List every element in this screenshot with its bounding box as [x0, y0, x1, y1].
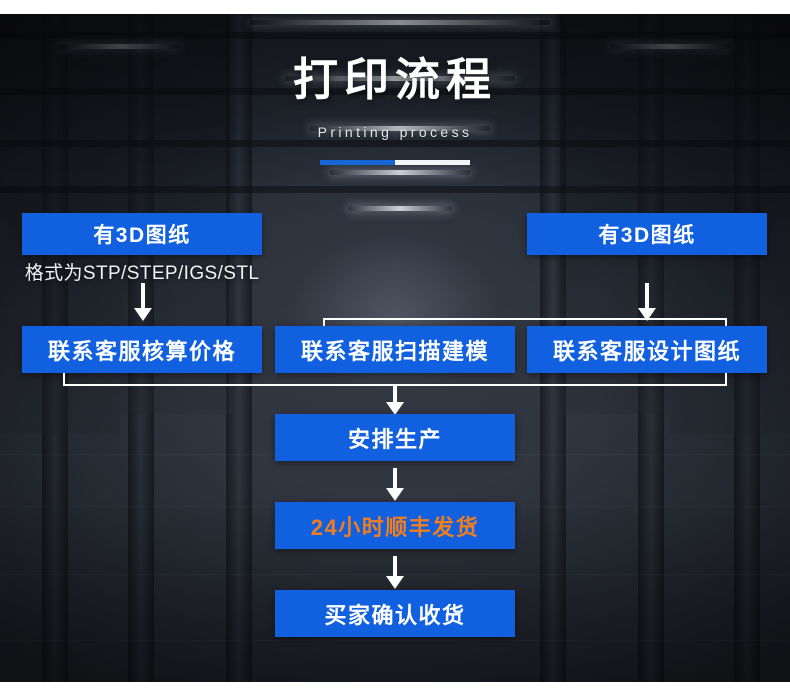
divider-segment-blue — [320, 160, 395, 165]
header: 打印流程 Printing process — [0, 52, 790, 165]
flow-box-24h-sf-express-shipping[interactable]: 24小时顺丰发货 — [275, 502, 515, 549]
flow-box-label: 安排生产 — [348, 422, 442, 454]
flow-box-contact-support-scan-model[interactable]: 联系客服扫描建模 — [275, 326, 515, 373]
arrow-down-to-production — [385, 386, 405, 415]
divider-segment-white — [395, 160, 470, 165]
flow-box-contact-support-quote[interactable]: 联系客服核算价格 — [22, 326, 262, 373]
flow-box-label: 联系客服设计图纸 — [553, 334, 741, 366]
flow-box-buyer-confirm-receipt[interactable]: 买家确认收货 — [275, 590, 515, 637]
flow-box-contact-support-design-drawing[interactable]: 联系客服设计图纸 — [527, 326, 767, 373]
flow-box-has-3d-drawing-right[interactable]: 有3D图纸 — [527, 213, 767, 255]
flow-box-label: 联系客服核算价格 — [48, 334, 236, 366]
flow-box-arrange-production[interactable]: 安排生产 — [275, 414, 515, 461]
arrow-down-right-branch — [637, 283, 657, 321]
flow-caption-file-formats: 格式为STP/STEP/IGS/STL — [22, 258, 262, 285]
print-process-infographic: 打印流程 Printing process 有3D图纸 格式为STP/STEP/… — [0, 0, 790, 696]
flow-box-has-3d-drawing-left[interactable]: 有3D图纸 — [22, 213, 262, 255]
top-white-margin — [0, 0, 790, 14]
bottom-white-margin — [0, 682, 790, 696]
title-divider — [320, 160, 470, 165]
flow-box-label: 有3D图纸 — [598, 219, 695, 249]
flow-box-label: 有3D图纸 — [93, 219, 190, 249]
page-title: 打印流程 — [0, 52, 790, 108]
arrow-down-to-confirmation — [385, 556, 405, 589]
bracket-bottom-merge — [63, 373, 727, 386]
flow-box-label: 买家确认收货 — [324, 598, 465, 630]
page-subtitle: Printing process — [0, 122, 790, 142]
arrow-down-left-branch — [133, 283, 153, 321]
flow-box-label: 24小时顺丰发货 — [311, 510, 479, 542]
arrow-down-to-shipping — [385, 468, 405, 501]
flow-box-label: 联系客服扫描建模 — [301, 334, 489, 366]
